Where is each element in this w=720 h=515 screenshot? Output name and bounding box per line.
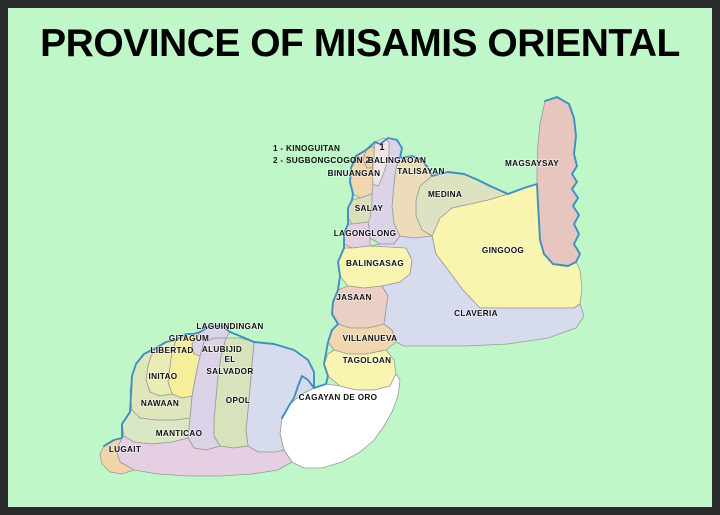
label-jasaan: JASAAN (336, 293, 371, 302)
label-magsaysay: MAGSAYSAY (505, 159, 559, 168)
label-manticao: MANTICAO (156, 429, 203, 438)
map-canvas: PROVINCE OF MISAMIS ORIENTAL (8, 8, 712, 507)
label-laguindingan: LAGUINDINGAN (196, 322, 263, 331)
label-lugait: LUGAIT (109, 445, 141, 454)
label-claveria: CLAVERIA (454, 309, 498, 318)
marker-1-label: 1 (379, 142, 384, 152)
label-salay: SALAY (355, 204, 384, 213)
label-cagayandeoro: CAGAYAN DE ORO (299, 393, 378, 402)
label-alubijid: ALUBIJID (202, 345, 242, 354)
legend-item-1: 1 - KINOGUITAN (273, 144, 340, 153)
label-binuangan: BINUANGAN (328, 169, 381, 178)
label-gitagum: GITAGUM (169, 334, 209, 343)
label-medina: MEDINA (428, 190, 462, 199)
label-libertad: LIBERTAD (150, 346, 193, 355)
label-balingaoan: BALINGAOAN (368, 156, 427, 165)
label-nawaan: NAWAAN (141, 399, 179, 408)
label-tagoloan: TAGOLOAN (343, 356, 392, 365)
label-villanueva: VILLANUEVA (343, 334, 398, 343)
label-lagonglong: LAGONGLONG (334, 229, 397, 238)
label-balingasag: BALINGASAG (346, 259, 404, 268)
map-page: PROVINCE OF MISAMIS ORIENTAL (0, 0, 720, 515)
label-gingoog: GINGOOG (482, 246, 524, 255)
label-talisayan: TALISAYAN (397, 167, 444, 176)
legend-item-2: 2 - SUGBONGCOGON (273, 156, 363, 165)
label-initao: INITAO (149, 372, 178, 381)
label-opol: OPOL (226, 396, 250, 405)
label-elsalvador-line1: EL (224, 355, 235, 364)
label-elsalvador-line2: SALVADOR (206, 367, 253, 376)
misamis-oriental-map[interactable]: 1 - KINOGUITAN 2 - SUGBONGCOGON 1 2 MAGS… (8, 8, 712, 507)
